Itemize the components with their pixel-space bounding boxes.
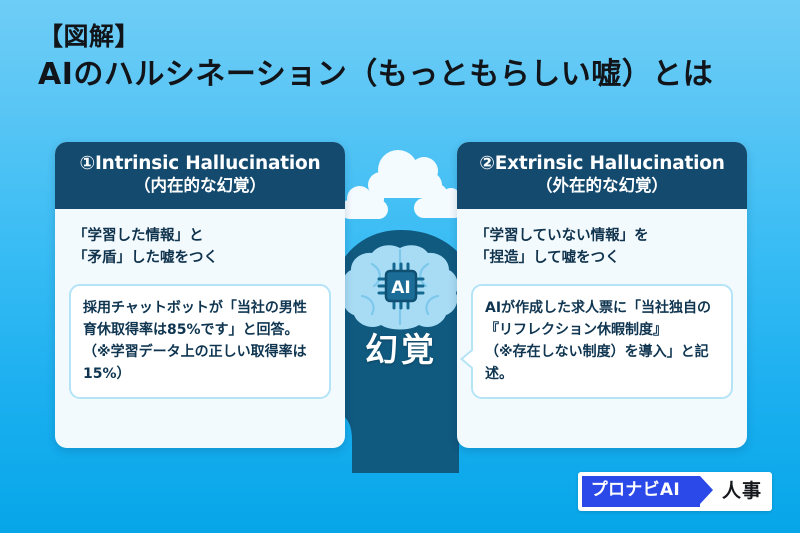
- title-line-2: AIのハルシネーション（もっともらしい嘘）とは: [38, 57, 713, 94]
- card-extrinsic: ②Extrinsic Hallucination （外在的な幻覚） 「学習してい…: [457, 142, 747, 448]
- cloud-icon: [340, 200, 388, 219]
- brand-logo: プロナビAI 人事: [578, 472, 772, 511]
- card-extrinsic-description: 「学習していない情報」を 「捏造」して嘘をつく: [457, 209, 747, 276]
- card-intrinsic: ①Intrinsic Hallucination （内在的な幻覚） 「学習した情…: [55, 142, 345, 448]
- card-extrinsic-title-en: ②Extrinsic Hallucination: [465, 152, 739, 175]
- card-intrinsic-description: 「学習した情報」と 「矛盾」した嘘をつく: [55, 209, 345, 276]
- card-extrinsic-header: ②Extrinsic Hallucination （外在的な幻覚）: [457, 142, 747, 209]
- chip-label: AI: [391, 278, 410, 298]
- page-title: 【図解】 AIのハルシネーション（もっともらしい嘘）とは: [38, 22, 713, 93]
- card-extrinsic-title-ja: （外在的な幻覚）: [465, 176, 739, 197]
- ai-chip-icon: AI: [377, 262, 425, 310]
- card-intrinsic-title-en: ①Intrinsic Hallucination: [63, 152, 337, 175]
- card-intrinsic-example: 採用チャットボットが「当社の男性育休取得率は85%です」と回答。 （※学習データ…: [69, 284, 331, 399]
- card-extrinsic-example: AIが作成した求人票に「当社独自の『リフレクション休暇制度』 （※存在しない制度…: [471, 284, 733, 399]
- brand-name: プロナビAI: [582, 476, 700, 507]
- title-line-1: 【図解】: [38, 22, 713, 53]
- infographic-canvas: 【図解】 AIのハルシネーション（もっともらしい嘘）とは: [0, 0, 800, 533]
- ai-chip-shape: AI: [377, 262, 425, 310]
- card-intrinsic-title-ja: （内在的な幻覚）: [63, 176, 337, 197]
- card-intrinsic-header: ①Intrinsic Hallucination （内在的な幻覚）: [55, 142, 345, 209]
